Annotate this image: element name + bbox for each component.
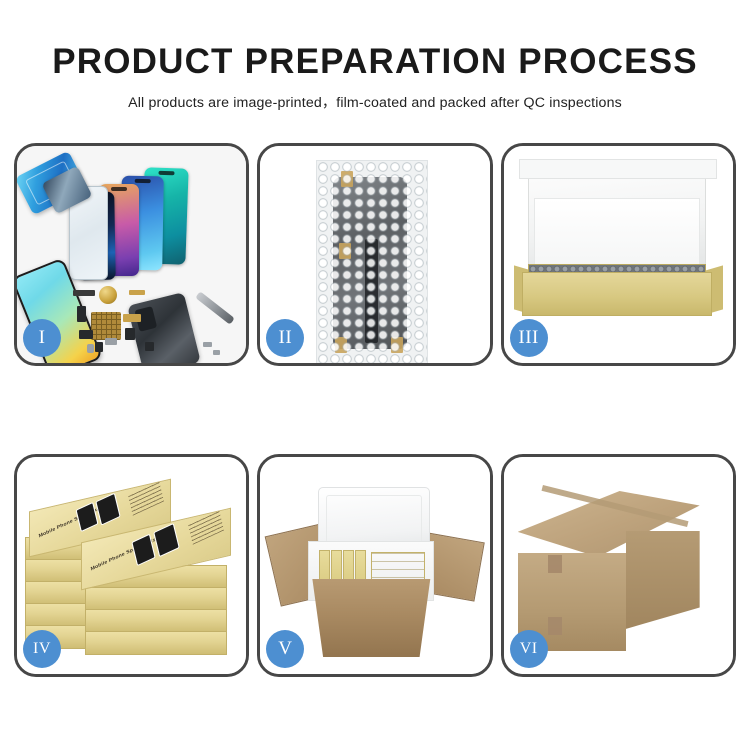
part-button-icon bbox=[95, 342, 103, 352]
part-speaker-icon bbox=[125, 328, 135, 340]
process-step-grid: I II III bbox=[14, 143, 736, 677]
part-bracket-icon bbox=[105, 338, 117, 345]
part-camera-icon bbox=[79, 330, 93, 339]
page-title: PRODUCT PREPARATION PROCESS bbox=[0, 0, 750, 81]
carton-tape-tab-top-icon bbox=[548, 555, 562, 573]
box-window-1b bbox=[95, 493, 120, 526]
stack-box-edge-9 bbox=[85, 631, 227, 655]
process-step-card-1[interactable]: I bbox=[14, 143, 249, 366]
kraft-box-base-icon bbox=[522, 272, 712, 316]
box-stack-icon: Mobile Phone Spare Parts Mobile Phone Sp… bbox=[25, 481, 233, 661]
part-gold-icon bbox=[129, 290, 145, 295]
part-screw-icon bbox=[203, 342, 212, 347]
step-badge-3: III bbox=[510, 319, 548, 357]
process-step-card-3[interactable]: III bbox=[501, 143, 736, 366]
process-step-card-6[interactable]: VI bbox=[501, 454, 736, 677]
part-sim-tray-icon bbox=[87, 344, 94, 353]
box-window-2b bbox=[153, 523, 180, 557]
bubble-wrap-bag-icon bbox=[316, 160, 428, 363]
page-subtitle: All products are image-printed，film-coat… bbox=[0, 81, 750, 112]
part-flex-icon bbox=[123, 314, 141, 322]
process-step-card-4[interactable]: Mobile Phone Spare Parts Mobile Phone Sp… bbox=[14, 454, 249, 677]
stack-box-edge-8 bbox=[85, 609, 227, 633]
vibration-motor-icon bbox=[99, 286, 117, 304]
page-header: PRODUCT PREPARATION PROCESS All products… bbox=[0, 0, 750, 112]
process-step-card-5[interactable]: V bbox=[257, 454, 492, 677]
box-spec-lines-2 bbox=[188, 510, 224, 545]
part-strip-icon bbox=[73, 290, 95, 296]
part-connector-icon bbox=[77, 306, 86, 322]
process-step-card-2[interactable]: II bbox=[257, 143, 492, 366]
step-badge-4: IV bbox=[23, 630, 61, 668]
carton-tape-tab-bottom-icon bbox=[548, 617, 562, 635]
stack-box-edge-7 bbox=[85, 587, 227, 611]
step-badge-1: I bbox=[23, 319, 61, 357]
box-spec-lines-1 bbox=[128, 481, 164, 516]
part-chip-icon bbox=[145, 342, 154, 351]
part-screw-2-icon bbox=[213, 350, 220, 355]
step-badge-6: VI bbox=[510, 630, 548, 668]
carton-body-icon bbox=[304, 579, 438, 657]
chip-array-icon bbox=[91, 312, 121, 340]
